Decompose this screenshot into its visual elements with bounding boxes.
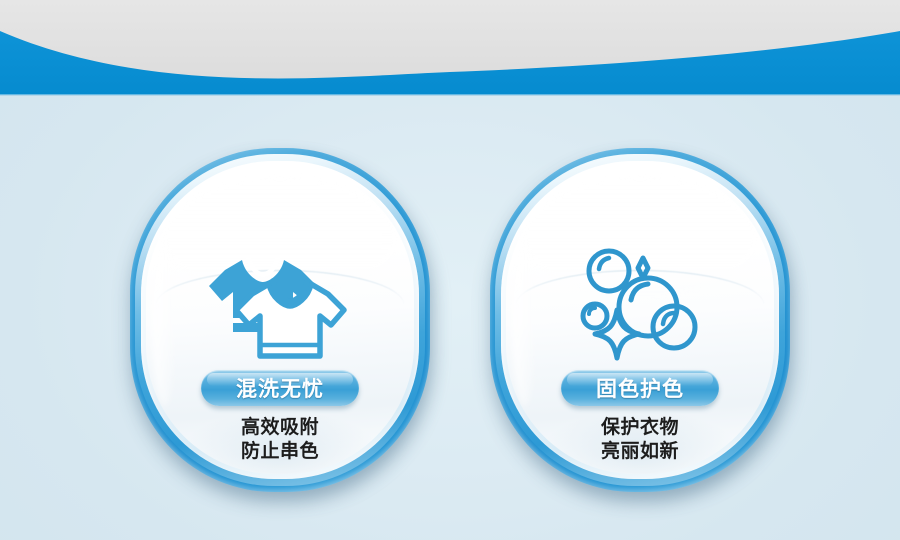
card-subtitle: 高效吸附 防止串色 bbox=[241, 415, 319, 464]
subtitle-line-2: 亮丽如新 bbox=[601, 439, 679, 463]
bubbles-sparkle-icon bbox=[565, 244, 715, 364]
badge-color-lock[interactable]: 固色护色 bbox=[561, 370, 719, 406]
card-subtitle: 保护衣物 亮丽如新 bbox=[601, 415, 679, 464]
badge-mixed-wash[interactable]: 混洗无忧 bbox=[201, 370, 359, 406]
poster-stage: 混洗无忧 高效吸附 防止串色 bbox=[0, 0, 900, 540]
badge-label: 固色护色 bbox=[596, 373, 684, 403]
feature-card-mixed-wash[interactable]: 混洗无忧 高效吸附 防止串色 bbox=[130, 148, 430, 492]
subtitle-line-2: 防止串色 bbox=[241, 439, 319, 463]
subtitle-line-1: 保护衣物 bbox=[601, 415, 679, 439]
feature-card-color-lock[interactable]: 固色护色 保护衣物 亮丽如新 bbox=[490, 148, 790, 492]
subtitle-line-1: 高效吸附 bbox=[241, 415, 319, 439]
sparkle-small bbox=[638, 258, 648, 278]
top-curved-banner bbox=[0, 0, 900, 96]
badge-label: 混洗无忧 bbox=[236, 373, 324, 403]
card-body: 混洗无忧 高效吸附 防止串色 bbox=[130, 148, 430, 492]
two-tshirts-icon bbox=[205, 244, 355, 364]
banner-bottom-hairline bbox=[0, 94, 900, 96]
card-content: 固色护色 保护衣物 亮丽如新 bbox=[490, 148, 790, 492]
card-body: 固色护色 保护衣物 亮丽如新 bbox=[490, 148, 790, 492]
sparkle-large bbox=[595, 310, 639, 358]
card-content: 混洗无忧 高效吸附 防止串色 bbox=[130, 148, 430, 492]
